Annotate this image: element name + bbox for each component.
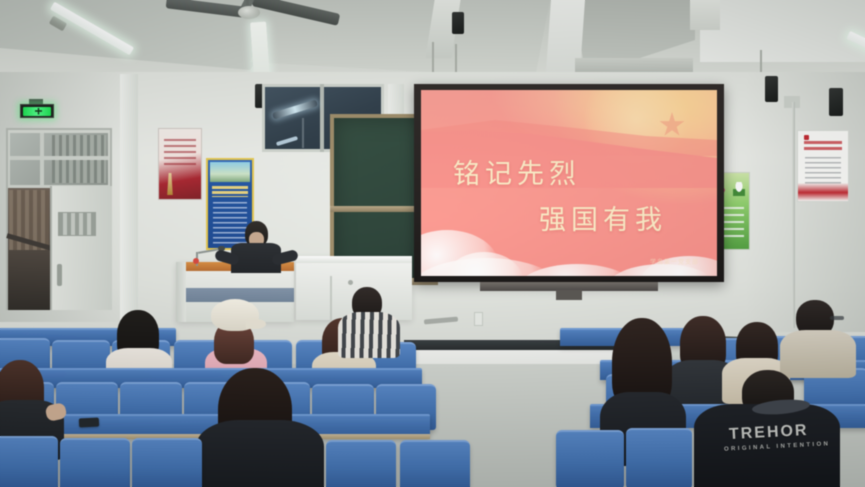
person-torso [338,312,400,358]
lectern-side [176,262,186,322]
poster-leaf-graphic [733,182,745,196]
wall-conduit [792,102,795,328]
ceiling-soffit [575,58,693,72]
poster-red-left [158,128,202,200]
exit-sign-glow [23,107,51,116]
poster-logo-icon [804,135,809,140]
seat[interactable] [400,440,470,487]
poster-body-text [213,202,247,244]
door-vent-grille [58,212,96,236]
lectern-indicator-light [193,258,199,264]
wall-shadow-right [745,72,865,332]
ceiling-beam-c [690,0,720,30]
poster-body-text [805,157,841,187]
smartphone-on-desk [79,417,99,427]
poster-text-block [164,139,196,165]
transom-mullion [10,156,108,160]
teacher-desk-knob[interactable] [348,280,353,285]
window-latch-rod [302,118,304,148]
slide-headline-line2: 强国有我 [539,198,667,237]
poster-title-block [212,186,248,197]
display-stand [556,290,582,300]
classroom-photo: 铭记先烈 强国有我 学名第一党支部 [0,0,865,487]
teacher-desk-seam [330,276,332,320]
teacher-desk-edge [296,256,412,263]
wall-speaker-icon [452,12,464,34]
projection-display-bezel: 铭记先烈 强国有我 学名第一党支部 [414,84,724,282]
wall-speaker-icon [829,88,843,116]
wall-pillar-left [120,74,138,324]
seat[interactable] [0,436,58,487]
seat[interactable] [556,430,624,487]
window-mullion [320,84,324,152]
ceiling-fan-icon [238,6,260,19]
person-torso [780,330,856,378]
door-handle[interactable] [57,264,62,286]
glasses-icon [830,316,844,320]
hanging-wire [432,42,434,76]
seat[interactable] [626,428,692,487]
slide-headline-line1: 铭记先烈 [453,152,581,191]
door-leaf[interactable] [50,186,112,310]
poster-title-block [804,141,842,153]
poster-header-image [210,162,250,182]
ceiling-panel-right [700,0,865,62]
seat[interactable] [60,438,130,487]
poster-monument-graphic [163,173,177,195]
exit-sign-icon [20,104,54,118]
hanging-wire [455,44,457,72]
wall-speaker-icon [765,76,778,102]
slide-footer-credit: 学名第一党支部 [650,257,699,266]
projection-slide: 铭记先烈 强国有我 学名第一党支部 [421,90,717,276]
wall-outlet [474,312,483,326]
person-cap-brim [246,319,266,329]
poster-white-right [797,130,849,202]
